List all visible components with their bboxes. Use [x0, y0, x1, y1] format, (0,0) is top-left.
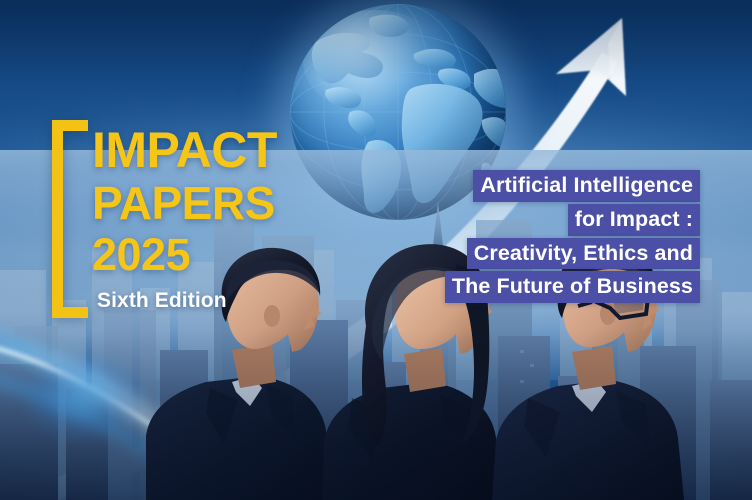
headline-line-1: Artificial Intelligence: [473, 170, 700, 202]
bracket-mark: [52, 120, 88, 318]
title-block: IMPACT PAPERS 2025 Sixth Edition: [92, 126, 382, 313]
title-line-impact: IMPACT: [92, 126, 382, 174]
edition-label: Sixth Edition: [97, 289, 382, 313]
headline-line-2: for Impact :: [568, 204, 700, 236]
title-line-year: 2025: [92, 233, 382, 276]
headline-block: Artificial Intelligence for Impact : Cre…: [445, 170, 700, 303]
title-line-papers: PAPERS: [92, 181, 382, 225]
headline-line-4: The Future of Business: [445, 271, 700, 303]
headline-line-3: Creativity, Ethics and: [467, 238, 700, 270]
poster-canvas: IMPACT PAPERS 2025 Sixth Edition Artific…: [0, 0, 752, 500]
